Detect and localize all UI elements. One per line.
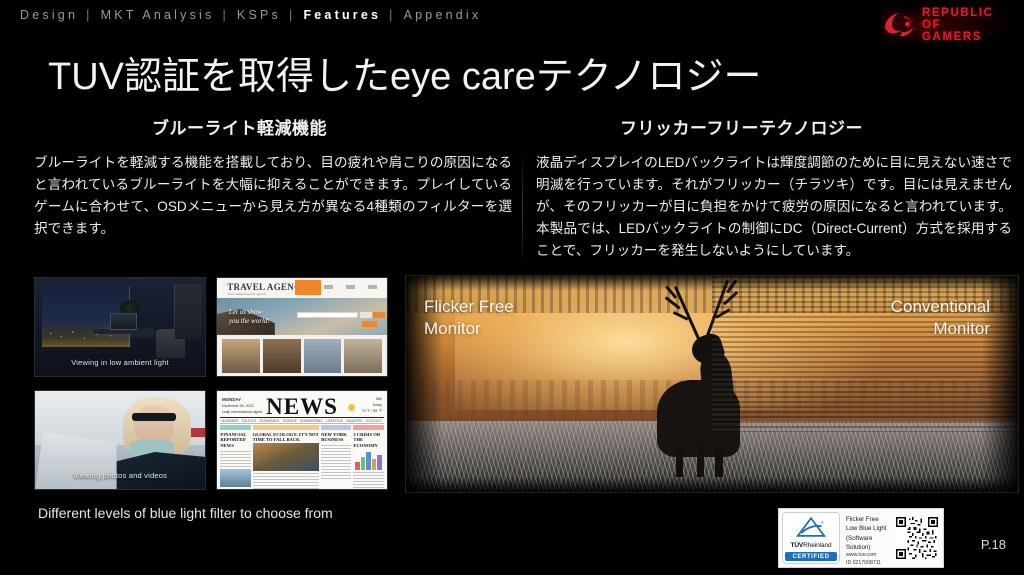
chart-bar [377,455,381,470]
nav-separator: | [383,8,401,22]
column-text [321,445,351,461]
newspaper-rule [220,417,383,418]
site-button-secondary[interactable] [360,312,372,318]
newspaper-category[interactable]: SCIENCE [283,419,297,423]
nav-separator: | [80,8,98,22]
tuv-seal: ® TÜVRheinland CERTIFIED [782,512,840,564]
destination-tile[interactable] [263,339,301,373]
thumbnail-photos-and-videos[interactable]: Viewing photos and videos [34,390,206,490]
destination-tile[interactable] [304,339,342,373]
newspaper-column-main: GLOBAL ECOLOGY: IT'S NOT TIME TO FALL BA… [253,425,320,487]
travel-site-illustration: TRAVEL AGENCY Your ultimate travel agenc… [217,278,387,376]
site-button-search[interactable] [362,321,377,327]
tuv-url-block: www.tuv.com ID 0217008711 [846,552,894,567]
thumbnail-caption: Viewing photos and videos [35,471,205,480]
tuv-triangle-icon: ® [796,516,826,538]
left-column-heading: ブルーライト軽減機能 [152,114,327,139]
tuv-claim-text: Flicker Free Low Blue Light (Software So… [846,515,894,552]
thumbnail-caption: Viewing in low ambient light [35,358,205,367]
column-headline: NEW YORK BUSINESS [321,432,351,443]
column-divider [522,150,523,268]
thumbnail-web-browsing[interactable]: TRAVEL AGENCY Your ultimate travel agenc… [216,277,388,377]
thumbnail-low-ambient-light[interactable]: Viewing in low ambient light [34,277,206,377]
slide: Design | MKT Analysis | KSPs | Features … [0,0,1024,575]
newspaper-category[interactable]: ECOLOGY [366,419,382,423]
page-title: TUV認証を取得したeye careテクノロジー [48,45,761,100]
newspaper-category-bar: BUSINESS POLITICS ECONOMICS SCIENCE ENGI… [220,419,383,424]
page-number: P.18 [981,537,1006,552]
thumbnail-grid-caption: Different levels of blue light filter to… [38,505,333,521]
site-nav-active [295,280,321,295]
conventional-label-line2: Monitor [891,318,990,340]
newspaper-edition: 58¢ [376,397,382,401]
column-headline: 3 CRISIS OR THE ECONOMY [353,432,383,449]
column-bar-chart [353,449,383,470]
newspaper-weather-label: Today [372,403,382,407]
newspaper-category[interactable]: ENGINEERING [300,419,322,423]
tuv-claim-line3: (Software [846,534,894,543]
flicker-free-label-line2: Monitor [424,318,514,340]
chart-bar [361,457,365,470]
column-tag [253,425,320,429]
nav-item-ksps[interactable]: KSPs [235,8,283,22]
newspaper-column: NEW YORK BUSINESS [321,425,351,487]
column-text [253,473,320,489]
rog-wordmark-line2: GAMERS [922,31,1010,43]
shelf-shape [174,284,201,339]
column-tag [353,425,383,429]
sun-icon [348,404,355,411]
chart-bar [366,452,370,470]
column-headline: FINANCIAL REPORTED NEWS [220,432,250,449]
nav-item-design[interactable]: Design [18,8,80,22]
tuv-org-rest: Rheinland [803,542,831,549]
site-destination-tiles [222,339,382,373]
monitor-shape [110,313,137,330]
rog-wordmark: REPUBLIC OF GAMERS [922,7,1010,43]
newspaper-columns: FINANCIAL REPORTED NEWS GLOBAL ECOLOGY: … [220,425,383,487]
destination-tile[interactable] [344,339,382,373]
newspaper-column: FINANCIAL REPORTED NEWS [220,425,250,487]
newspaper-category[interactable]: INDUSTRY [346,419,362,423]
tuv-claim-line1: Flicker Free [846,515,894,524]
newspaper-category[interactable]: LIFESTYLE [326,419,343,423]
newspaper-weather-value: 73 °F / 55 °F [362,409,382,413]
nav-separator: | [216,8,234,22]
car-door-shape [35,432,117,489]
flicker-free-label: Flicker Free Monitor [424,296,514,340]
newspaper-illustration: MONDAY November 06, 2023 Daily informati… [217,391,387,489]
newspaper-category[interactable]: POLITICS [242,419,257,423]
svg-text:®: ® [821,519,825,525]
rog-logo: REPUBLIC OF GAMERS [882,6,1010,44]
newspaper-category[interactable]: BUSINESS [222,419,238,423]
sunglasses-shape [132,413,176,422]
tuv-organization-name: TÜVRheinland [790,542,831,549]
site-hero: Let us showyou the world! [217,298,387,335]
right-column-body: 液晶ディスプレイのLEDバックライトは輝度調節のために目に見えない速さで明滅を行… [536,152,1012,262]
stag-silhouette [651,315,755,458]
column-tag [321,425,351,429]
stag-leg [715,443,722,477]
tuv-claim-line2: Low Blue Light [846,524,894,533]
newspaper-column: 3 CRISIS OR THE ECONOMY [353,425,383,487]
stag-leg [676,443,683,477]
qr-code-icon [896,517,938,559]
main-image [253,443,320,471]
flicker-comparison-image[interactable]: Flicker Free Monitor Conventional Monito… [405,275,1019,493]
column-text [321,463,351,479]
chart-bar [355,462,359,469]
main-headline: GLOBAL ECOLOGY: IT'S NOT TIME TO FALL BA… [253,432,320,443]
rog-eye-icon [882,10,916,40]
nav-item-mkt-analysis[interactable]: MKT Analysis [99,8,217,22]
column-text [353,472,383,488]
destination-tile[interactable] [222,339,260,373]
site-search-input[interactable] [297,312,358,318]
tuv-claim-block: Flicker Free Low Blue Light (Software So… [840,512,894,564]
rog-wordmark-line1: REPUBLIC OF [922,7,1010,31]
conventional-monitor-label: Conventional Monitor [891,296,990,340]
tuv-id: ID 0217008711 [846,560,894,568]
flicker-free-label-line1: Flicker Free [424,296,514,318]
section-breadcrumb-nav: Design | MKT Analysis | KSPs | Features … [18,8,483,22]
column-text [220,451,250,467]
tuv-qr-code[interactable] [894,512,940,564]
newspaper-edition-weather: 58¢ Today 73 °F / 55 °F [338,396,382,414]
stag-leg [697,443,704,477]
hero-script-text: Let us showyou the world! [229,308,270,326]
newspaper-category[interactable]: ECONOMICS [260,419,280,423]
tuv-certification-badge: ® TÜVRheinland CERTIFIED Flicker Free Lo… [778,508,944,568]
tuv-org-bold: TÜV [790,542,803,549]
right-column-heading: フリッカーフリーテクノロジー [620,114,863,139]
site-nav-items [324,285,380,289]
column-tag [220,425,250,429]
tuv-url[interactable]: www.tuv.com [846,552,894,560]
nav-item-appendix[interactable]: Appendix [402,8,484,22]
left-column-body: ブルーライトを軽減する機能を搭載しており、目の疲れや肩こりの原因になると言われて… [34,152,512,240]
column-image [220,469,250,488]
tuv-claim-line4: Solution) [846,543,894,552]
conventional-label-line1: Conventional [891,296,990,318]
nav-item-features[interactable]: Features [301,8,383,22]
thumbnail-reading-news[interactable]: MONDAY November 06, 2023 Daily informati… [216,390,388,490]
nav-separator: | [283,8,301,22]
chart-bar [372,459,376,469]
site-button-primary[interactable] [373,312,385,318]
tuv-certified-banner: CERTIFIED [785,552,837,561]
